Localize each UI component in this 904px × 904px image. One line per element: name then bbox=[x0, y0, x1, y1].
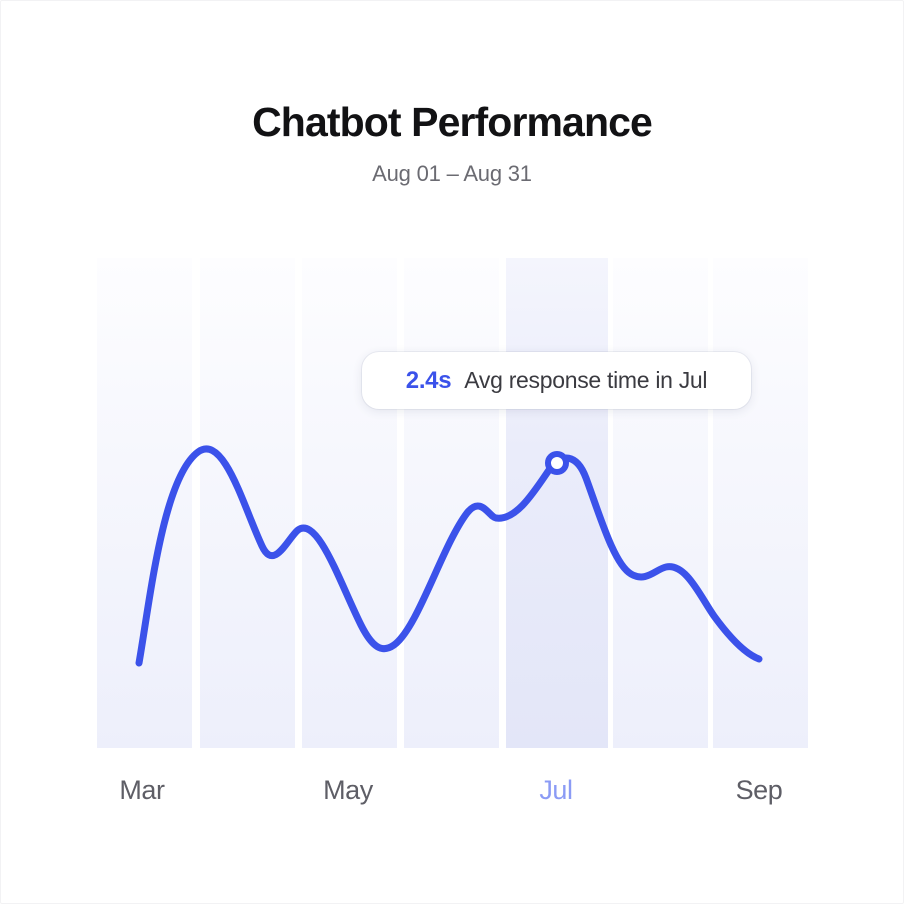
line-series-path bbox=[139, 449, 759, 663]
tooltip-card[interactable]: 2.4s Avg response time in Jul bbox=[362, 352, 751, 409]
highlight-data-point-marker[interactable] bbox=[548, 454, 566, 472]
tooltip-label: Avg response time in Jul bbox=[464, 367, 707, 394]
x-axis-tick-labels: MarMayJulSep bbox=[0, 768, 904, 818]
chart-card: Chatbot Performance Aug 01 – Aug 31 2.4s… bbox=[0, 0, 904, 904]
x-tick-mar[interactable]: Mar bbox=[119, 768, 164, 812]
x-tick-jul[interactable]: Jul bbox=[539, 768, 572, 812]
x-tick-sep[interactable]: Sep bbox=[736, 768, 783, 812]
plot-area bbox=[97, 258, 808, 748]
tooltip-value: 2.4s bbox=[406, 367, 452, 395]
x-tick-may[interactable]: May bbox=[323, 768, 373, 812]
